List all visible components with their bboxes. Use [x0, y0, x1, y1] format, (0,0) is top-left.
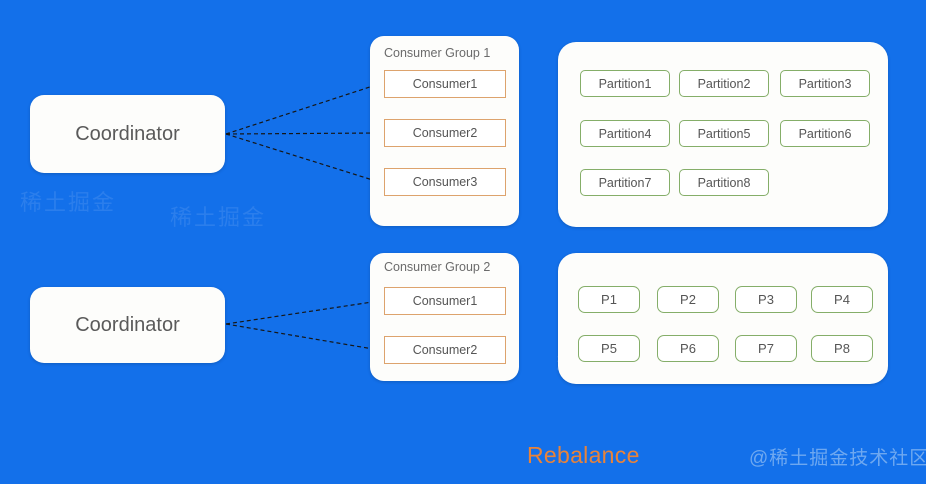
background-watermark: 稀土掘金 [20, 185, 116, 217]
consumer-box[interactable]: Consumer2 [384, 336, 506, 364]
site-watermark: @稀土掘金技术社区 [749, 443, 926, 470]
partition-box[interactable]: Partition8 [679, 169, 769, 196]
rebalance-caption: Rebalance [527, 442, 640, 469]
partitions-panel-top: Partition1Partition2Partition3Partition4… [558, 42, 888, 227]
partition-box[interactable]: Partition3 [780, 70, 870, 97]
consumer-box[interactable]: Consumer3 [384, 168, 506, 196]
consumer-box[interactable]: Consumer1 [384, 70, 506, 98]
partition-box[interactable]: Partition5 [679, 120, 769, 147]
consumer-group-title-1: Consumer Group 1 [384, 46, 490, 61]
partition-box[interactable]: P4 [811, 286, 873, 313]
consumer-group-title-2: Consumer Group 2 [384, 260, 496, 275]
partition-box[interactable]: Partition4 [580, 120, 670, 147]
partition-box[interactable]: P2 [657, 286, 719, 313]
partition-box[interactable]: P6 [657, 335, 719, 362]
background-watermark: 稀土掘金 [170, 200, 266, 232]
partition-box[interactable]: P7 [735, 335, 797, 362]
partition-box[interactable]: Partition1 [580, 70, 670, 97]
partitions-panel-bottom: P1P2P3P4P5P6P7P8 [558, 253, 888, 384]
diagram-canvas: 稀土掘金稀土掘金稀土掘金稀土掘金稀土掘金稀土掘金稀土掘金稀土掘金 Coordin… [0, 0, 926, 484]
arrow-coordinator1-to-consumer2 [226, 133, 379, 134]
partition-box[interactable]: P1 [578, 286, 640, 313]
partition-box[interactable]: Partition2 [679, 70, 769, 97]
consumer-box[interactable]: Consumer2 [384, 119, 506, 147]
partition-box[interactable]: P3 [735, 286, 797, 313]
partition-box[interactable]: P8 [811, 335, 873, 362]
arrow-coordinator2-to-consumer1 [226, 301, 379, 324]
partition-box[interactable]: Partition7 [580, 169, 670, 196]
consumer-group-panel-1: Consumer Group 1Consumer1Consumer2Consum… [370, 36, 519, 226]
consumer-group-panel-2: Consumer Group 2Consumer1Consumer2 [370, 253, 519, 381]
arrow-coordinator1-to-consumer3 [226, 134, 379, 182]
arrow-coordinator2-to-consumer2 [226, 324, 379, 350]
coordinator-box-2[interactable]: Coordinator [30, 287, 225, 363]
coordinator-box-1[interactable]: Coordinator [30, 95, 225, 173]
partition-box[interactable]: Partition6 [780, 120, 870, 147]
partition-box[interactable]: P5 [578, 335, 640, 362]
consumer-box[interactable]: Consumer1 [384, 287, 506, 315]
arrow-coordinator1-to-consumer1 [226, 84, 379, 134]
